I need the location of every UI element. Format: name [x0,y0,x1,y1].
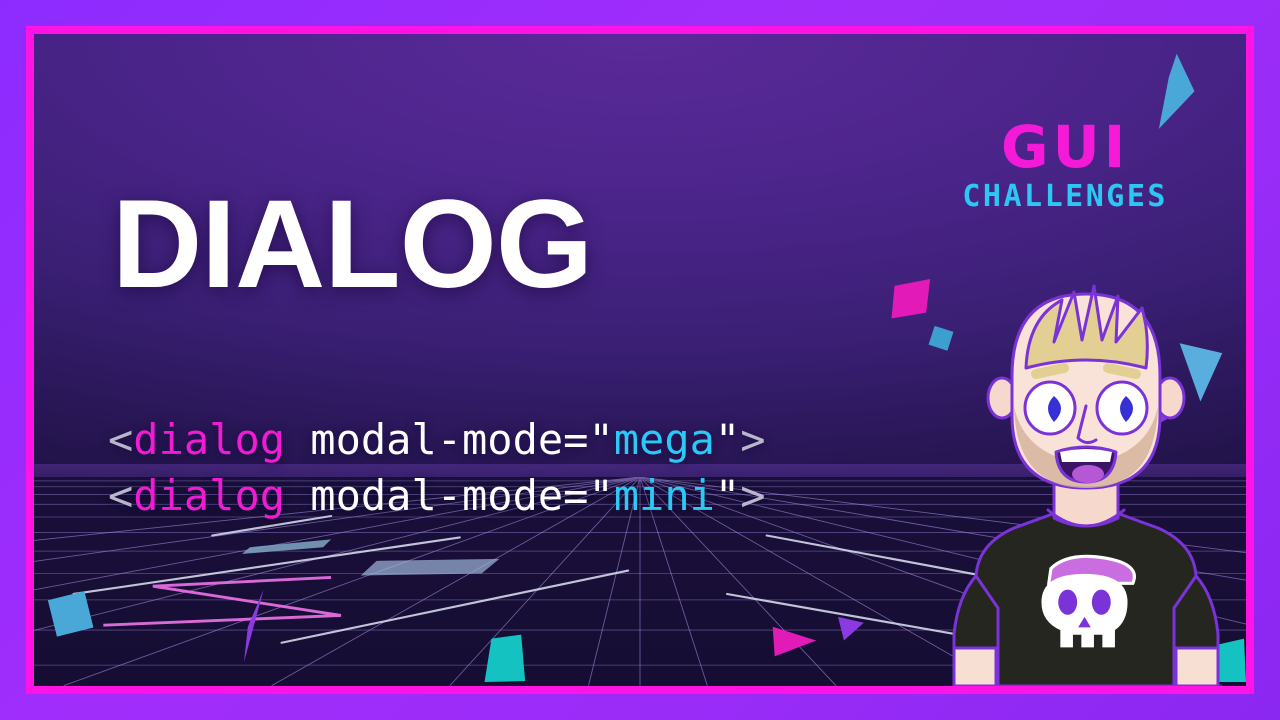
code-quote-close: " [715,415,740,464]
code-quote-open: " [588,415,613,464]
avatar-teeth [1060,449,1112,462]
code-open-bracket: < [108,471,133,520]
code-tag-name: dialog [133,471,285,520]
code-open-bracket: < [108,415,133,464]
brand-lockup: GUI CHALLENGES [962,120,1168,214]
code-line: <dialog modal-mode="mega"> [108,415,766,464]
code-quote-close: " [715,471,740,520]
brand-title-gui: GUI [962,120,1168,175]
scene-background: DIALOG <dialog modal-mode="mega"> <dialo… [34,34,1246,686]
magenta-frame-border: DIALOG <dialog modal-mode="mega"> <dialo… [26,26,1254,694]
code-line: <dialog modal-mode="mini"> [108,471,766,520]
code-attribute: modal-mode= [285,415,588,464]
code-quote-open: " [588,471,613,520]
blue-triangle-confetti-top-right [1159,54,1195,129]
page-title: DIALOG [112,182,592,307]
avatar-arm-left [954,648,996,686]
code-attr-value: mega [614,415,715,464]
avatar-eyebrow-right [1108,368,1136,374]
blue-slab-decoration [361,559,500,576]
slide-canvas: DIALOG <dialog modal-mode="mega"> <dialo… [0,0,1280,720]
code-attr-value: mini [614,471,715,520]
avatar-illustration [936,256,1236,686]
code-snippet: <dialog modal-mode="mega"> <dialog modal… [108,412,766,524]
code-close-bracket: > [740,471,765,520]
code-attribute: modal-mode= [285,471,588,520]
avatar-eyebrow-left [1036,368,1064,374]
skull-eye-left [1058,590,1077,615]
avatar-arm-right [1176,648,1218,686]
skull-eye-right [1092,590,1111,615]
magenta-quad-confetti [892,279,931,319]
brand-subtitle-challenges: CHALLENGES [962,179,1168,214]
code-close-bracket: > [740,415,765,464]
avatar [936,256,1236,686]
code-tag-name: dialog [133,415,285,464]
avatar-tongue [1072,465,1104,483]
blue-streak-decoration [242,540,331,555]
